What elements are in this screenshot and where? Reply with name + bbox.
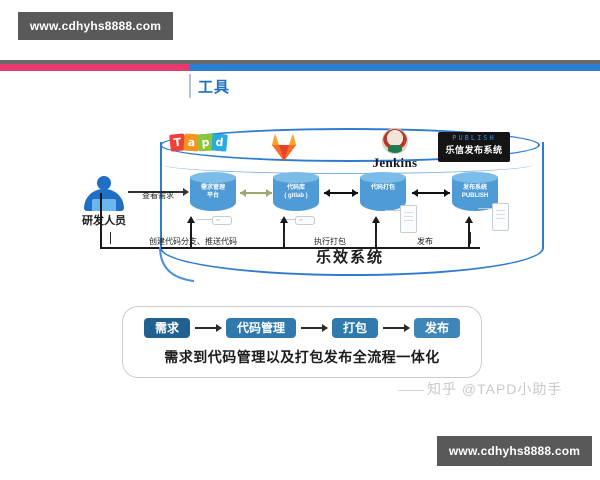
tapd-logo: T a p d [170, 134, 226, 151]
node-code-repository: 代码库 ( gitlab ) [273, 172, 319, 216]
developer-avatar [82, 176, 126, 212]
lexin-publish-label: 乐信发布系统 [438, 143, 510, 156]
chip-code-management: 代码管理 [226, 318, 296, 338]
rail-separator [376, 232, 377, 244]
node-label-line2: PUBLISH [452, 192, 498, 200]
device-icon-server-2 [295, 216, 315, 225]
developer-label: 研发人员 [62, 212, 146, 228]
summary-chip-row: 需求 代码管理 打包 发布 [123, 318, 481, 338]
arrow-head-left [412, 189, 418, 197]
jenkins-label: Jenkins [358, 155, 432, 171]
arrow-package-to-publish [412, 192, 450, 194]
arrow-requirement-to-repo [240, 192, 272, 194]
node-top [452, 172, 498, 183]
rail-label-publish: 发布 [400, 236, 450, 247]
container-label: 乐效系统 [160, 246, 540, 267]
chip-arrow-2 [301, 327, 327, 329]
chip-publish: 发布 [414, 318, 460, 338]
process-rail [100, 247, 480, 249]
tapd-letter: d [211, 133, 227, 151]
node-label-line1: 需求管理 [190, 184, 236, 192]
watermark-top: www.cdhyhs8888.com [18, 12, 173, 40]
node-label-line1: 发布系统 [452, 184, 498, 192]
chip-arrow-3 [383, 327, 409, 329]
node-label: 需求管理 平台 [190, 184, 236, 200]
node-label: 发布系统 PUBLISH [452, 184, 498, 200]
jenkins-butler-icon [382, 128, 408, 154]
node-top [190, 172, 236, 183]
arrow-head-left [324, 189, 330, 197]
node-label-line2: 平台 [190, 192, 236, 200]
gitlab-logo [268, 132, 300, 162]
jenkins-logo: Jenkins [358, 128, 432, 171]
node-label-line1: 代码库 [273, 184, 319, 192]
header-divider [189, 74, 191, 98]
zhihu-watermark-text: 知乎 @TAPD小助手 [427, 381, 562, 397]
avatar-laptop-icon [92, 199, 116, 211]
rail-separator [470, 232, 471, 244]
arrow-head-left [240, 189, 246, 197]
arrow-head-right [352, 189, 358, 197]
view-requirement-label: 查看需求 [128, 190, 188, 201]
node-top [273, 172, 319, 183]
rail-separator [110, 232, 111, 244]
rail-left-riser [100, 193, 102, 249]
device-lead-line [385, 210, 400, 211]
slide-canvas: www.cdhyhs8888.com www.cdhyhs8888.com 知乎… [0, 0, 600, 480]
zhihu-watermark: 知乎 @TAPD小助手 [398, 379, 562, 399]
avatar-head [97, 176, 111, 190]
node-top [360, 172, 406, 183]
watermark-bottom: www.cdhyhs8888.com [437, 436, 592, 466]
rail-label-create-push: 创建代码分支、推送代码 [118, 236, 268, 247]
rail-separator [284, 232, 285, 244]
rail-curve [158, 247, 198, 287]
watermark-dash [398, 390, 424, 391]
chip-requirement: 需求 [144, 318, 190, 338]
device-lead-line [478, 208, 492, 209]
node-label: 代码库 ( gitlab ) [273, 184, 319, 200]
rail-label-build: 执行打包 [300, 236, 360, 247]
header-blue-bar [189, 64, 600, 71]
page-title: 工具 [198, 76, 230, 97]
node-label: 代码打包 [360, 184, 406, 192]
lexin-publish-logo: PUBLISH 乐信发布系统 [438, 132, 510, 162]
summary-card: 需求 代码管理 打包 发布 需求到代码管理以及打包发布全流程一体化 [122, 306, 482, 378]
arrow-repo-to-package [324, 192, 358, 194]
header-pink-bar [0, 64, 189, 71]
device-icon-server-1 [212, 216, 232, 225]
chip-packaging: 打包 [332, 318, 378, 338]
device-lead-line [196, 219, 212, 220]
device-icon-rack-3 [400, 205, 417, 233]
device-icon-rack-4 [492, 203, 509, 231]
node-requirement-platform: 需求管理 平台 [190, 172, 236, 216]
chip-arrow-1 [195, 327, 221, 329]
gitlab-fox-icon [268, 132, 300, 162]
summary-caption: 需求到代码管理以及打包发布全流程一体化 [123, 347, 481, 367]
node-label-line2: ( gitlab ) [273, 192, 319, 200]
lexin-publish-sub: PUBLISH [438, 134, 510, 142]
arrow-head-right [444, 189, 450, 197]
arrow-head-right [266, 189, 272, 197]
node-label-line1: 代码打包 [360, 184, 406, 192]
